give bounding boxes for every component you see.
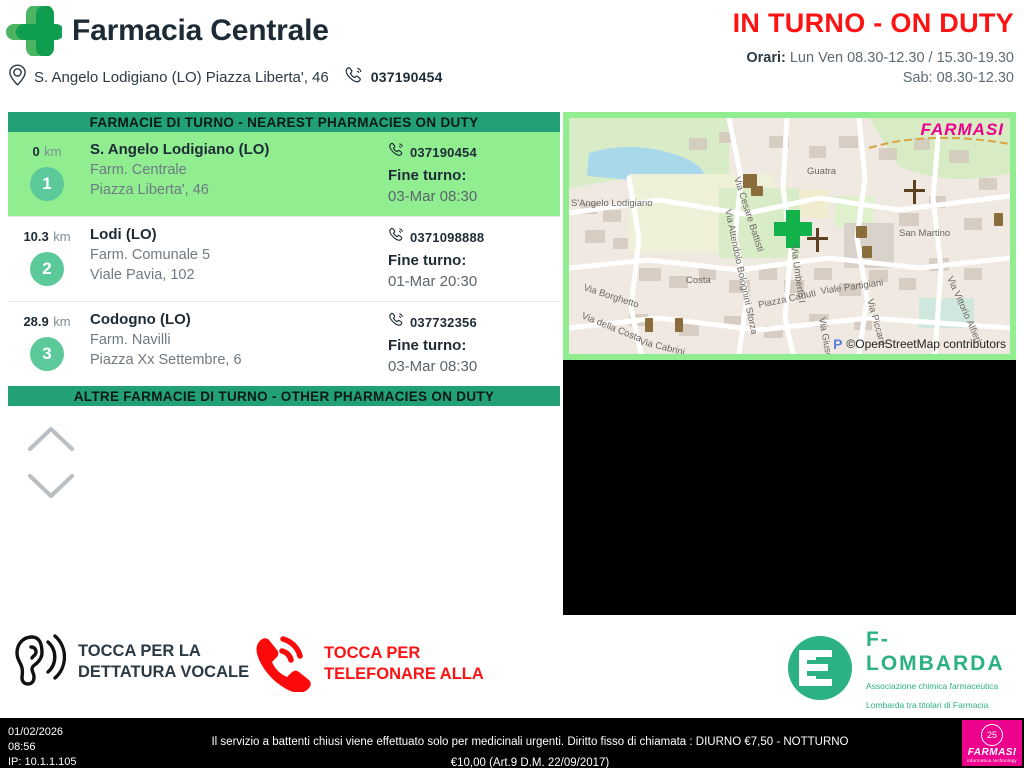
- pharmacy-name-cell: Farm. Navilli: [90, 332, 388, 348]
- anniversary-seal: 25: [981, 724, 1003, 746]
- footer-status: 01/02/2026 08:56 IP: 10.1.1.105: [8, 725, 77, 768]
- green-cross-icon: [6, 6, 62, 56]
- phone-ringing-icon: [250, 630, 312, 697]
- row-phone[interactable]: 037732356: [388, 311, 560, 333]
- svg-text:San Martino: San Martino: [899, 228, 950, 239]
- phone-ring-icon: [388, 141, 405, 163]
- distance-unit: km: [53, 314, 70, 329]
- badge-subtitle: information technology: [967, 758, 1017, 763]
- hours-weekday: Lun Ven 08.30-12.30 / 15.30-19.30: [790, 50, 1014, 66]
- distance-value: 28.9: [23, 314, 48, 329]
- sponsor-sub-line-2: Lombarda tra titolari di Farmacia: [866, 700, 988, 710]
- distance-value: 0: [32, 144, 39, 159]
- svg-text:Guatra: Guatra: [807, 166, 837, 177]
- badge-name: FARMASI: [968, 747, 1017, 758]
- pharmacy-address-cell: Viale Pavia, 102: [90, 267, 388, 283]
- row-phone[interactable]: 0371098888: [388, 226, 560, 248]
- end-shift-label: Fine turno:: [388, 252, 560, 269]
- sponsor-subtitle: Associazione chimica farmaceutica Lombar…: [866, 681, 998, 709]
- f-lombarda-text: F-LOMBARDA Associazione chimica farmaceu…: [866, 628, 1024, 713]
- pharmacy-address-bar: S. Angelo Lodigiano (LO) Piazza Liberta'…: [8, 64, 443, 90]
- end-shift-label: Fine turno:: [388, 337, 560, 354]
- row-phone[interactable]: 037190454: [388, 141, 560, 163]
- row-phone-number: 037190454: [410, 145, 477, 160]
- call-line-2: TELEFONARE ALLA: [324, 665, 484, 683]
- chevron-down-icon[interactable]: [26, 471, 560, 506]
- end-shift-value: 01-Mar 20:30: [388, 273, 560, 290]
- phone-ring-icon: [388, 226, 405, 248]
- notice-line-1: Il servizio a battenti chiusi viene effe…: [120, 732, 940, 753]
- openstreetmap-view[interactable]: S'Angelo Lodigiano Guatra San Martino Co…: [569, 118, 1010, 354]
- rank-badge: 3: [30, 337, 64, 371]
- footer-notice: Il servizio a battenti chiusi viene effe…: [120, 732, 940, 768]
- opening-hours: Orari: Lun Ven 08.30-12.30 / 15.30-19.30…: [733, 49, 1014, 88]
- distance-cell: 10.3 km2: [8, 226, 86, 290]
- hours-label: Orari:: [746, 50, 786, 66]
- map-pin-icon: [8, 64, 27, 90]
- map-attribution: P ©OpenStreetMap contributors: [833, 336, 1006, 352]
- dictation-line-1: TOCCA PER LA: [78, 642, 201, 660]
- ear-listening-icon: [10, 630, 66, 693]
- row-phone-number: 0371098888: [410, 230, 484, 245]
- footer-time: 08:56: [8, 740, 77, 755]
- parking-icon: P: [833, 336, 842, 352]
- address-text: S. Angelo Lodigiano (LO) Piazza Liberta'…: [34, 69, 329, 86]
- action-bar: TOCCA PER LA DETTATURA VOCALE TOCCA PER …: [0, 618, 1024, 718]
- sponsor-sub-line-1: Associazione chimica farmaceutica: [866, 681, 998, 691]
- call-line-1: TOCCA PER: [324, 644, 420, 662]
- pharmacy-contact: 037190454Fine turno:03-Mar 08:30: [388, 141, 560, 205]
- on-duty-title: IN TURNO - ON DUTY: [733, 8, 1014, 39]
- end-shift-label: Fine turno:: [388, 167, 560, 184]
- pharmacy-name: Farmacia Centrale: [72, 14, 329, 48]
- header-phone-number[interactable]: 037190454: [371, 69, 443, 85]
- pharmacy-address-cell: Piazza Xx Settembre, 6: [90, 352, 388, 368]
- pharmacy-name-cell: Farm. Comunale 5: [90, 247, 388, 263]
- brand: Farmacia Centrale: [6, 6, 329, 56]
- rank-badge: 2: [30, 252, 64, 286]
- pharmacy-name-cell: Farm. Centrale: [90, 162, 388, 178]
- farmasi-badge: 25 FARMASI information technology: [962, 720, 1022, 766]
- svg-text:S'Angelo Lodigiano: S'Angelo Lodigiano: [571, 198, 653, 209]
- distance-value: 10.3: [23, 229, 48, 244]
- end-shift-value: 03-Mar 08:30: [388, 188, 560, 205]
- distance-unit: km: [44, 144, 61, 159]
- list-scroll-controls: [8, 424, 560, 506]
- f-lombarda-logo-icon: [786, 634, 854, 707]
- map-container[interactable]: S'Angelo Lodigiano Guatra San Martino Co…: [563, 112, 1016, 360]
- pharmacy-address-cell: Piazza Liberta', 46: [90, 182, 388, 198]
- end-shift-value: 03-Mar 08:30: [388, 358, 560, 375]
- on-duty-block: IN TURNO - ON DUTY Orari: Lun Ven 08.30-…: [733, 8, 1014, 88]
- pharmacy-on-duty-kiosk: Farmacia Centrale S. Angelo Lodigiano (L…: [0, 0, 1024, 768]
- voice-dictation-label: TOCCA PER LA DETTATURA VOCALE: [78, 641, 249, 682]
- table-row[interactable]: 10.3 km2Lodi (LO)Farm. Comunale 5Viale P…: [8, 216, 560, 301]
- pharmacy-city: Codogno (LO): [90, 311, 388, 328]
- notice-line-2: €10,00 (Art.9 D.M. 22/09/2017): [120, 753, 940, 768]
- other-section-header: ALTRE FARMACIE DI TURNO - OTHER PHARMACI…: [8, 386, 560, 406]
- call-pharmacy-button[interactable]: TOCCA PER TELEFONARE ALLA: [250, 630, 484, 697]
- nearest-section-header: FARMACIE DI TURNO - NEAREST PHARMACIES O…: [8, 112, 560, 132]
- table-row[interactable]: 0 km1S. Angelo Lodigiano (LO)Farm. Centr…: [8, 132, 560, 216]
- rank-badge: 1: [30, 167, 64, 201]
- distance-cell: 0 km1: [8, 141, 86, 205]
- attribution-text: ©OpenStreetMap contributors: [846, 337, 1006, 351]
- page-footer: 01/02/2026 08:56 IP: 10.1.1.105 Il servi…: [0, 718, 1024, 768]
- phone-ring-icon: [344, 65, 364, 89]
- sponsor-name: F-LOMBARDA: [866, 628, 1004, 675]
- pharmacy-info: Lodi (LO)Farm. Comunale 5Viale Pavia, 10…: [86, 226, 388, 290]
- pharmacy-list-column: FARMACIE DI TURNO - NEAREST PHARMACIES O…: [8, 112, 560, 518]
- pharmacy-info: S. Angelo Lodigiano (LO)Farm. CentralePi…: [86, 141, 388, 205]
- map-watermark: FARMASI: [921, 120, 1005, 140]
- pharmacy-contact: 0371098888Fine turno:01-Mar 20:30: [388, 226, 560, 290]
- row-phone-number: 037732356: [410, 315, 477, 330]
- footer-date: 01/02/2026: [8, 725, 77, 740]
- page-header: Farmacia Centrale S. Angelo Lodigiano (L…: [0, 0, 1024, 104]
- pharmacy-city: Lodi (LO): [90, 226, 388, 243]
- distance-unit: km: [53, 229, 70, 244]
- pharmacy-city: S. Angelo Lodigiano (LO): [90, 141, 388, 158]
- hours-saturday: Sab: 08.30-12.30: [733, 69, 1014, 89]
- chevron-up-icon[interactable]: [26, 424, 560, 459]
- nearest-pharmacy-rows: 0 km1S. Angelo Lodigiano (LO)Farm. Centr…: [8, 132, 560, 386]
- dictation-line-2: DETTATURA VOCALE: [78, 663, 249, 681]
- svg-text:Costa: Costa: [686, 275, 712, 286]
- footer-ip: IP: 10.1.1.105: [8, 755, 77, 768]
- video-panel[interactable]: [563, 360, 1016, 615]
- call-label: TOCCA PER TELEFONARE ALLA: [324, 643, 484, 684]
- f-lombarda-sponsor: F-LOMBARDA Associazione chimica farmaceu…: [786, 628, 1024, 713]
- pharmacy-info: Codogno (LO)Farm. NavilliPiazza Xx Sette…: [86, 311, 388, 375]
- table-row[interactable]: 28.9 km3Codogno (LO)Farm. NavilliPiazza …: [8, 301, 560, 386]
- distance-cell: 28.9 km3: [8, 311, 86, 375]
- phone-ring-icon: [388, 311, 405, 333]
- pharmacy-contact: 037732356Fine turno:03-Mar 08:30: [388, 311, 560, 375]
- voice-dictation-button[interactable]: TOCCA PER LA DETTATURA VOCALE: [10, 630, 249, 693]
